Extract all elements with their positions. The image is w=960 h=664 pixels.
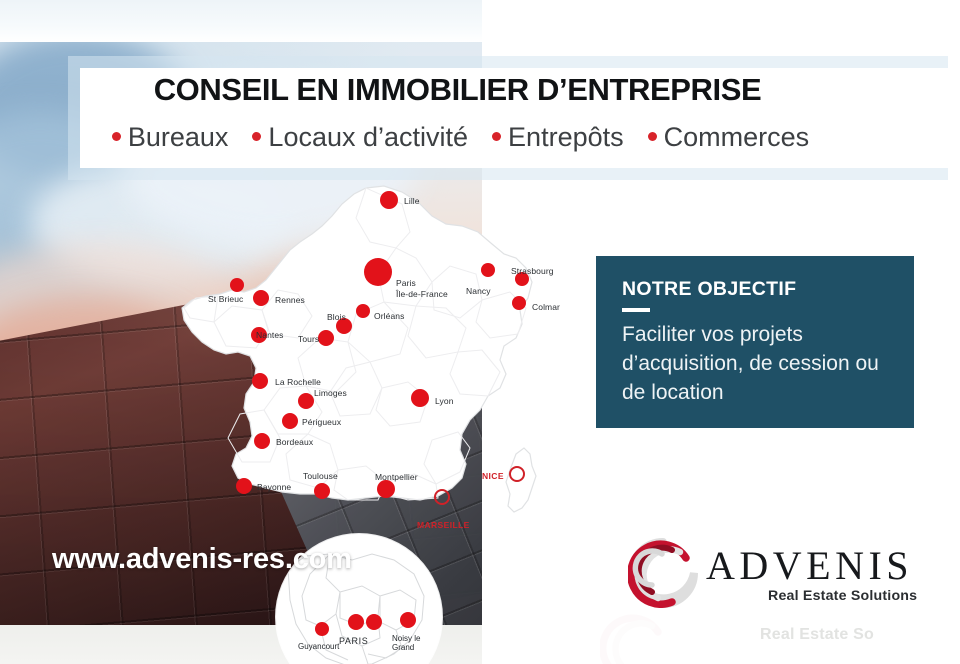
map-marker[interactable] (512, 296, 526, 310)
map-marker[interactable] (356, 304, 370, 318)
objective-body: Faciliter vos projets d’acquisition, de … (622, 320, 902, 407)
map-city-label: Lille (404, 196, 420, 206)
service-tag: Locaux d’activité (246, 122, 468, 153)
map-city-label: ParisÎle-de-France (396, 278, 448, 299)
map-city-label: St Brieuc (208, 294, 243, 304)
map-marker[interactable] (481, 263, 495, 277)
bullet-dot-icon (648, 132, 657, 141)
map-city-label: Blois (327, 312, 346, 322)
map-city-label: Lyon (435, 396, 454, 406)
map-marker[interactable] (377, 480, 395, 498)
advenis-swirl-icon-ghost (600, 612, 690, 664)
map-city-label: Limoges (314, 388, 347, 398)
france-map: LilleParisÎle-de-FranceStrasbourgNancyCo… (170, 182, 600, 547)
map-city-label: Nantes (256, 330, 284, 340)
map-city-label: Toulouse (303, 471, 338, 481)
service-tag: Commerces (642, 122, 810, 153)
map-marker[interactable] (253, 290, 269, 306)
map-city-label: Colmar (532, 302, 560, 312)
objective-divider (622, 308, 650, 312)
inset-map-marker[interactable] (366, 614, 382, 630)
advenis-logo: ADVENIS Real Estate Solutions (628, 536, 928, 618)
logo-tagline-ghost: Real Estate So (760, 626, 874, 644)
map-marker[interactable] (314, 483, 330, 499)
map-city-label: NICE (482, 471, 504, 481)
inset-map-marker[interactable] (315, 622, 329, 636)
map-marker[interactable] (318, 330, 334, 346)
map-marker[interactable] (252, 373, 268, 389)
inset-map-marker[interactable] (348, 614, 364, 630)
page-title: CONSEIL EN IMMOBILIER D’ENTREPRISE (0, 72, 915, 108)
map-city-label: Périgueux (302, 417, 341, 427)
inset-city-label: PARIS (339, 636, 368, 646)
logo-wordmark: ADVENIS (706, 542, 913, 589)
objective-heading: NOTRE OBJECTIF (622, 278, 796, 301)
service-tag-list: BureauxLocaux d’activitéEntrepôtsCommerc… (0, 122, 915, 153)
map-city-label: Orléans (374, 311, 404, 321)
map-city-label: Nancy (466, 286, 491, 296)
inset-map-marker[interactable] (400, 612, 416, 628)
map-city-label: Strasbourg (511, 266, 554, 276)
service-tag-label: Commerces (664, 122, 810, 152)
map-city-label: La Rochelle (275, 377, 321, 387)
white-background-top (0, 0, 482, 42)
inset-city-label: Guyancourt (298, 642, 339, 651)
map-marker[interactable] (254, 433, 270, 449)
service-tag-label: Entrepôts (508, 122, 624, 152)
map-city-label: Bordeaux (276, 437, 313, 447)
objective-panel: NOTRE OBJECTIF Faciliter vos projets d’a… (596, 256, 914, 428)
poster-canvas: CONSEIL EN IMMOBILIER D’ENTREPRISE Burea… (0, 0, 960, 664)
map-marker[interactable] (434, 489, 450, 505)
map-marker[interactable] (298, 393, 314, 409)
logo-tagline: Real Estate Solutions (768, 588, 917, 604)
website-url[interactable]: www.advenis-res.com (52, 543, 352, 576)
map-marker[interactable] (236, 478, 252, 494)
bullet-dot-icon (252, 132, 261, 141)
advenis-swirl-icon (628, 538, 698, 608)
map-marker[interactable] (364, 258, 392, 286)
map-city-label: Rennes (275, 295, 305, 305)
map-marker[interactable] (509, 466, 525, 482)
service-tag: Entrepôts (486, 122, 624, 153)
map-marker[interactable] (411, 389, 429, 407)
service-tag-label: Bureaux (128, 122, 229, 152)
inset-city-label: Noisy leGrand (392, 634, 420, 652)
map-city-label: Bayonne (257, 482, 291, 492)
bullet-dot-icon (112, 132, 121, 141)
map-city-label: MARSEILLE (417, 520, 470, 530)
bullet-dot-icon (492, 132, 501, 141)
map-marker[interactable] (380, 191, 398, 209)
service-tag: Bureaux (106, 122, 229, 153)
map-city-label: Tours (298, 334, 319, 344)
map-marker[interactable] (230, 278, 244, 292)
map-city-label: Montpellier (375, 472, 418, 482)
service-tag-label: Locaux d’activité (268, 122, 468, 152)
map-marker[interactable] (282, 413, 298, 429)
